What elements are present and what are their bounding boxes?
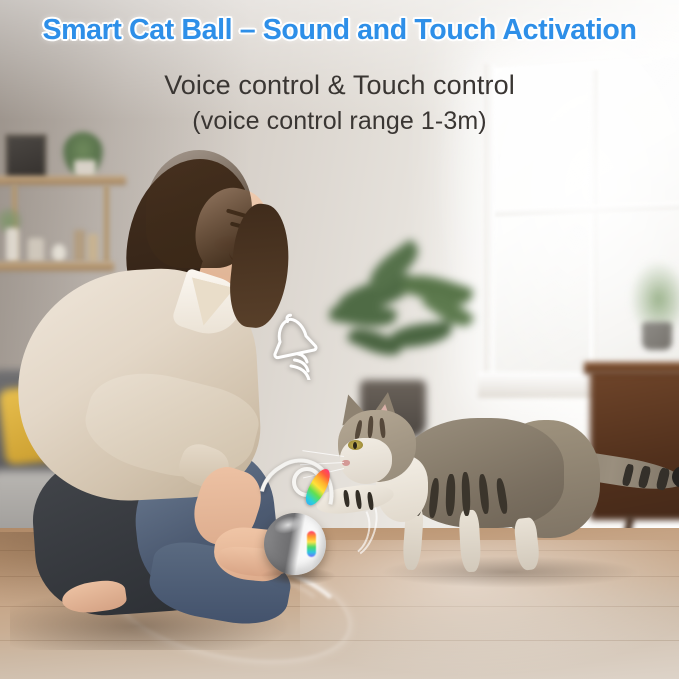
product-poster: Smart Cat Ball – Sound and Touch Activat… xyxy=(0,0,679,679)
subtitle: Voice control & Touch control (voice con… xyxy=(0,66,679,140)
subtitle-line-2: (voice control range 1-3m) xyxy=(0,104,679,140)
sideboard-top xyxy=(584,362,679,374)
tabby-cat xyxy=(320,398,679,598)
subtitle-line-1: Voice control & Touch control xyxy=(164,70,515,100)
smart-cat-ball xyxy=(252,455,372,580)
led-light-strip xyxy=(307,531,316,557)
bell-sound-icon xyxy=(266,310,338,380)
windowsill-plant-pot xyxy=(642,322,672,350)
page-title: Smart Cat Ball – Sound and Touch Activat… xyxy=(5,14,674,47)
windowsill-plant xyxy=(628,258,679,332)
